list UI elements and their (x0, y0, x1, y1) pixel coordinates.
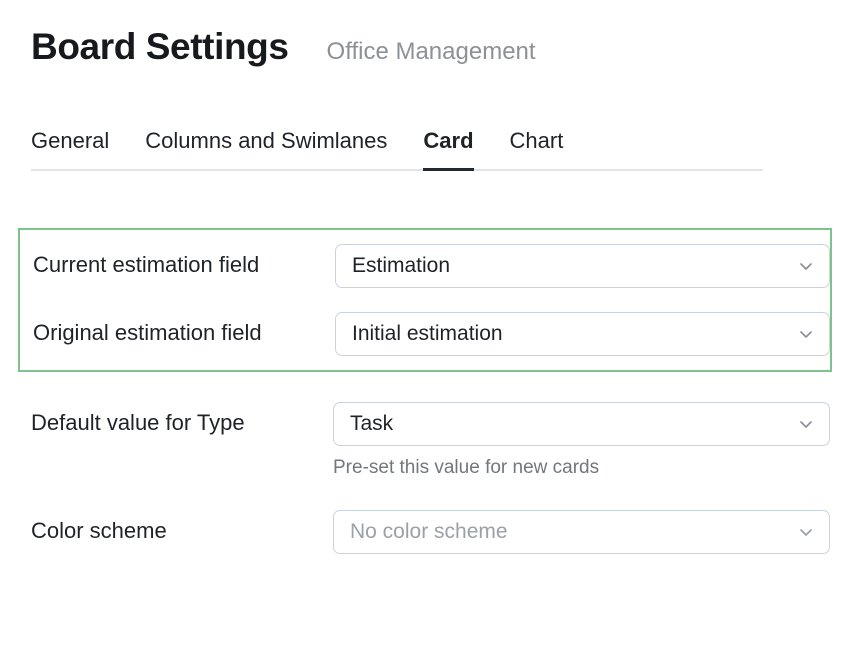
chevron-down-icon (797, 415, 815, 433)
tab-chart[interactable]: Chart (510, 128, 564, 171)
board-name-subtitle: Office Management (327, 40, 536, 64)
row-original-estimation-field: Original estimation field Initial estima… (20, 312, 830, 356)
hint-default-value-for-type: Pre-set this value for new cards (333, 457, 830, 480)
select-original-estimation-field-value: Initial estimation (352, 322, 503, 346)
tab-general[interactable]: General (31, 128, 109, 171)
chevron-down-icon (797, 325, 815, 343)
select-color-scheme-value: No color scheme (350, 520, 508, 544)
select-original-estimation-field[interactable]: Initial estimation (335, 312, 830, 356)
spacer (0, 372, 858, 402)
board-settings-page: Board Settings Office Management General… (0, 0, 858, 652)
select-color-scheme[interactable]: No color scheme (333, 510, 830, 554)
row-default-value-for-type: Default value for Type Task Pre-set this… (0, 402, 858, 480)
select-current-estimation-field[interactable]: Estimation (335, 244, 830, 288)
label-original-estimation-field: Original estimation field (33, 312, 335, 349)
chevron-down-icon (797, 257, 815, 275)
tab-card[interactable]: Card (423, 128, 473, 171)
select-default-value-for-type[interactable]: Task (333, 402, 830, 446)
control-color-scheme: No color scheme (333, 510, 830, 554)
page-title: Board Settings (31, 28, 289, 65)
estimation-fields-highlight-group: Current estimation field Estimation Orig… (18, 228, 832, 372)
control-current-estimation-field: Estimation (335, 244, 830, 288)
tab-columns-and-swimlanes[interactable]: Columns and Swimlanes (145, 128, 387, 171)
chevron-down-icon (797, 523, 815, 541)
card-settings-form: Current estimation field Estimation Orig… (0, 228, 858, 554)
control-default-value-for-type: Task Pre-set this value for new cards (333, 402, 830, 480)
row-color-scheme: Color scheme No color scheme (0, 510, 858, 554)
row-current-estimation-field: Current estimation field Estimation (20, 244, 830, 288)
select-default-value-for-type-value: Task (350, 412, 393, 436)
control-original-estimation-field: Initial estimation (335, 312, 830, 356)
label-current-estimation-field: Current estimation field (33, 244, 335, 281)
select-current-estimation-field-value: Estimation (352, 254, 450, 278)
settings-tabs: General Columns and Swimlanes Card Chart (31, 128, 763, 171)
tab-strip: General Columns and Swimlanes Card Chart (31, 128, 763, 171)
page-header: Board Settings Office Management (31, 28, 536, 65)
spacer (0, 480, 858, 510)
label-color-scheme: Color scheme (31, 510, 333, 547)
label-default-value-for-type: Default value for Type (31, 402, 333, 439)
